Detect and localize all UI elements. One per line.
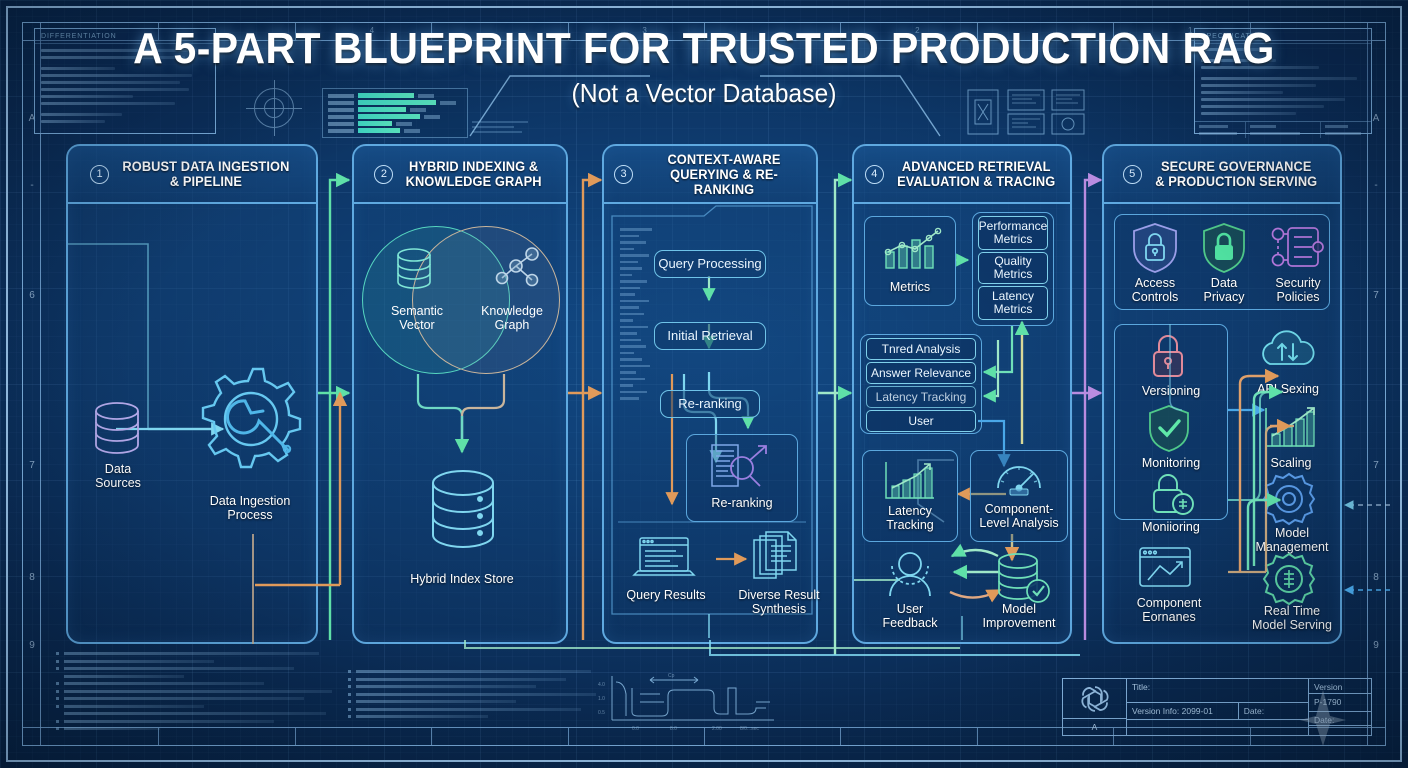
title-block-title-label: Title: xyxy=(1127,679,1308,695)
panel-2-title: HYBRID INDEXING &KNOWLEDGE GRAPH xyxy=(406,159,542,189)
left-margin-label: - xyxy=(24,180,40,191)
title-block-logo-cell: A xyxy=(1063,679,1127,735)
blueprint-canvas: A-6789A-7789 4321 DIFFERENTIATION SPECIF… xyxy=(0,0,1408,768)
deco-profile-drawing: 4.01.00.5 0.08.02.008/0...sec Cp xyxy=(588,672,778,734)
gauge-icon xyxy=(994,454,1044,500)
re-ranking-box[interactable]: Re-ranking xyxy=(660,390,760,418)
panel-4-title: ADVANCED RETRIEVALEVALUATION & TRACING xyxy=(897,159,1055,189)
component-level-analysis-label: Component-Level Analysis xyxy=(966,502,1072,530)
panel-5-header: 5 SECURE GOVERNANCE& PRODUCTION SERVING xyxy=(1104,146,1340,204)
ruler-tick xyxy=(977,728,978,746)
re-ranking-label: Re-ranking xyxy=(678,397,742,411)
hybrid-index-store-icon-wrap xyxy=(424,469,502,562)
notes-column-2 xyxy=(348,670,598,723)
notes-column-1 xyxy=(56,652,338,735)
hybrid-index-store-label: Hybrid Index Store xyxy=(362,572,562,586)
right-margin-label: - xyxy=(1368,180,1384,191)
diverse-result-synthesis-icon-wrap xyxy=(752,530,806,589)
title-area: A 5-PART BLUEPRINT FOR TRUSTED PRODUCTIO… xyxy=(0,24,1408,109)
openai-logo-icon xyxy=(1078,682,1112,716)
database-icon xyxy=(424,469,502,557)
panel-4[interactable]: 4 ADVANCED RETRIEVALEVALUATION & TRACING xyxy=(852,144,1072,644)
svg-text:0.0: 0.0 xyxy=(632,726,639,732)
panel-5-title: SECURE GOVERNANCE& PRODUCTION SERVING xyxy=(1155,159,1317,189)
panel-2-number: 2 xyxy=(374,165,393,184)
panel-4-number: 4 xyxy=(865,165,884,184)
model-improvement-icon-wrap xyxy=(994,550,1052,609)
page-subtitle: (Not a Vector Database) xyxy=(35,78,1373,109)
panel-1-title: ROBUST DATA INGESTION& PIPELINE xyxy=(122,159,289,189)
latency-tracking-icon-wrap xyxy=(880,458,938,509)
left-margin-label: 9 xyxy=(24,640,40,651)
right-margin-label: 7 xyxy=(1368,290,1384,301)
panel-1-header: 1 ROBUST DATA INGESTION& PIPELINE xyxy=(68,146,316,204)
north-arrow-icon xyxy=(1300,690,1346,746)
query-results-icon-wrap xyxy=(632,534,696,587)
title-block-date-label: Date: xyxy=(1239,703,1308,719)
info-box-top-right-cells xyxy=(1195,121,1371,138)
page-title: A 5-PART BLUEPRINT FOR TRUSTED PRODUCTIO… xyxy=(49,24,1358,74)
document-magnifier-icon xyxy=(708,442,776,490)
deco-dotline xyxy=(470,118,530,136)
ruler-tick xyxy=(568,728,569,746)
right-margin-label: 7 xyxy=(1368,460,1384,471)
panel-3-body: Query Processing Initial Retrieval Re-ra… xyxy=(604,204,816,642)
query-results-label: Query Results xyxy=(614,588,718,602)
title-block-revision: A xyxy=(1063,719,1126,735)
database-check-icon xyxy=(994,550,1052,604)
title-block-version-info: Version Info: 2099-01 xyxy=(1127,703,1238,719)
ruler-tick xyxy=(840,728,841,746)
diverse-result-synthesis-label: Diverse ResultSynthesis xyxy=(736,588,822,616)
panel-3[interactable]: 3 CONTEXT-AWAREQUERYING & RE-RANKING xyxy=(602,144,818,644)
growth-chart-icon xyxy=(880,458,938,504)
panel-2-header: 2 HYBRID INDEXING &KNOWLEDGE GRAPH xyxy=(354,146,566,204)
svg-text:Cp: Cp xyxy=(668,673,675,679)
panel-5[interactable]: 5 SECURE GOVERNANCE& PRODUCTION SERVING … xyxy=(1102,144,1342,644)
right-margin-label: 8 xyxy=(1368,572,1384,583)
panel-5-number: 5 xyxy=(1123,165,1142,184)
svg-text:4.0: 4.0 xyxy=(598,682,605,688)
panel-5-body: AccessControls DataPrivacy xyxy=(1104,204,1340,642)
user-feedback-icon-wrap xyxy=(882,548,938,605)
query-to-synthesis-arrow xyxy=(716,552,754,566)
panel-3-title: CONTEXT-AWAREQUERYING & RE-RANKING xyxy=(646,152,802,197)
panel-2-body: SemanticVector KnowledgeGraph xyxy=(354,204,566,642)
data-ingestion-label: Data IngestionProcess xyxy=(180,494,320,522)
svg-text:0.5: 0.5 xyxy=(598,710,605,716)
query-processing-box[interactable]: Query Processing xyxy=(654,250,766,278)
title-block-main-cell: Title: Version Info: 2099-01 Date: xyxy=(1127,679,1309,735)
laptop-icon xyxy=(632,534,696,582)
svg-text:2.00: 2.00 xyxy=(712,726,722,732)
panel-4-body: Metrics PerformanceMetrics QualityMetric… xyxy=(854,204,1070,642)
panel-3-header: 3 CONTEXT-AWAREQUERYING & RE-RANKING xyxy=(604,146,816,204)
panel-3-number: 3 xyxy=(614,165,633,184)
panel-5-wiring xyxy=(1104,204,1344,646)
initial-retrieval-box[interactable]: Initial Retrieval xyxy=(654,322,766,350)
component-level-analysis-icon-wrap xyxy=(994,454,1044,505)
gear-wrench-icon xyxy=(193,359,313,479)
latency-tracking-card-label: LatencyTracking xyxy=(862,504,958,532)
database-icon xyxy=(88,399,146,461)
re-ranking-detail-label: Re-ranking xyxy=(686,496,798,510)
svg-text:8.0: 8.0 xyxy=(670,726,677,732)
left-margin-label: 6 xyxy=(24,290,40,301)
data-ingestion-icon-wrap xyxy=(193,359,313,484)
ruler-tick xyxy=(431,728,432,746)
user-icon xyxy=(882,548,938,600)
panel-1[interactable]: 1 ROBUST DATA INGESTION& PIPELINE xyxy=(66,144,318,644)
panel-1-number: 1 xyxy=(90,165,109,184)
panel-4-header: 4 ADVANCED RETRIEVALEVALUATION & TRACING xyxy=(854,146,1070,204)
re-ranking-detail-icon-wrap xyxy=(708,442,776,495)
user-feedback-label: UserFeedback xyxy=(862,602,958,630)
query-processing-label: Query Processing xyxy=(658,257,761,271)
svg-text:1.0: 1.0 xyxy=(598,696,605,702)
svg-text:8/0...sec: 8/0...sec xyxy=(740,726,759,732)
data-sources-label: DataSources xyxy=(78,462,158,490)
right-margin-label: 9 xyxy=(1368,640,1384,651)
documents-icon xyxy=(752,530,806,584)
initial-retrieval-label: Initial Retrieval xyxy=(667,329,752,343)
panel-1-body: DataSources Data IngestionProcess xyxy=(68,204,316,642)
panel-2[interactable]: 2 HYBRID INDEXING &KNOWLEDGE GRAPH Seman… xyxy=(352,144,568,644)
data-sources-icon-wrap xyxy=(88,399,146,466)
left-margin-label: 8 xyxy=(24,572,40,583)
model-improvement-label: ModelImprovement xyxy=(966,602,1072,630)
left-margin-label: 7 xyxy=(24,460,40,471)
